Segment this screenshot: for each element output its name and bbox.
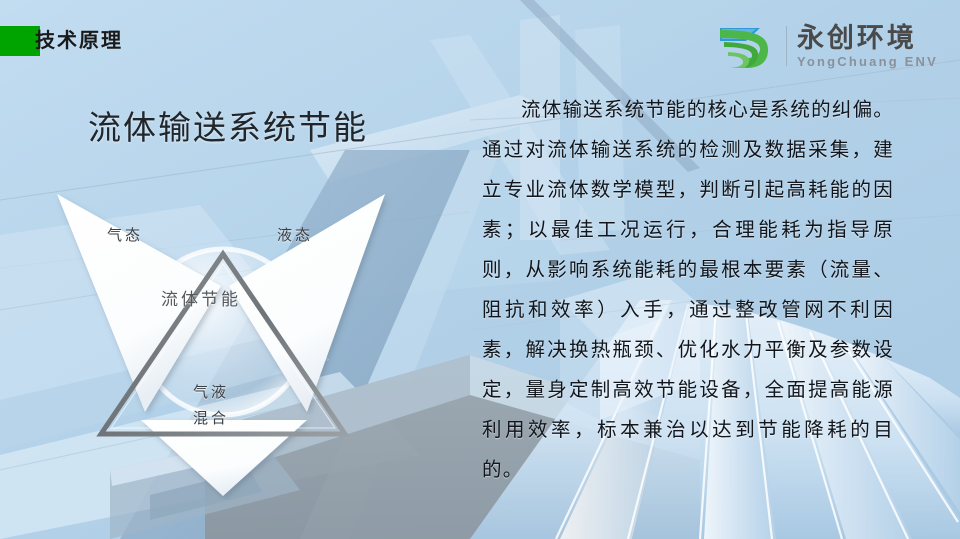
body-paragraph: 流体输送系统节能的核心是系统的纠偏。通过对流体输送系统的检测及数据采集，建立专业… [482, 90, 894, 490]
logo-wordmark: 永创环境 YongChuang ENV [797, 24, 938, 69]
logo-divider [786, 26, 787, 66]
page-title: 技术原理 [35, 27, 123, 55]
slide-header: 技术原理 永创环境 YongChuang ENV [0, 0, 960, 80]
triangle-node-label-mixture: 气液 混合 [193, 380, 229, 432]
triangle-diagram-shapes [45, 180, 425, 500]
triangle-node-label-gas: 气态 [107, 224, 143, 245]
presentation-slide: 技术原理 永创环境 YongChuang ENV 流体输送系统节能 [0, 0, 960, 539]
logo-emblem-icon [716, 22, 778, 70]
mixture-label-line2: 混合 [193, 406, 229, 432]
mixture-label-line1: 气液 [193, 380, 229, 406]
logo-english-name: YongChuang ENV [797, 54, 938, 69]
triangle-center-label: 流体节能 [161, 285, 241, 310]
logo-chinese-name: 永创环境 [797, 24, 938, 53]
triangle-node-label-liquid: 液态 [277, 224, 313, 245]
company-logo: 永创环境 YongChuang ENV [716, 22, 938, 70]
fluid-energy-triangle-diagram: 气态 液态 气液 混合 流体节能 [45, 180, 425, 500]
section-heading: 流体输送系统节能 [88, 101, 368, 149]
header-accent-mark [0, 26, 40, 56]
